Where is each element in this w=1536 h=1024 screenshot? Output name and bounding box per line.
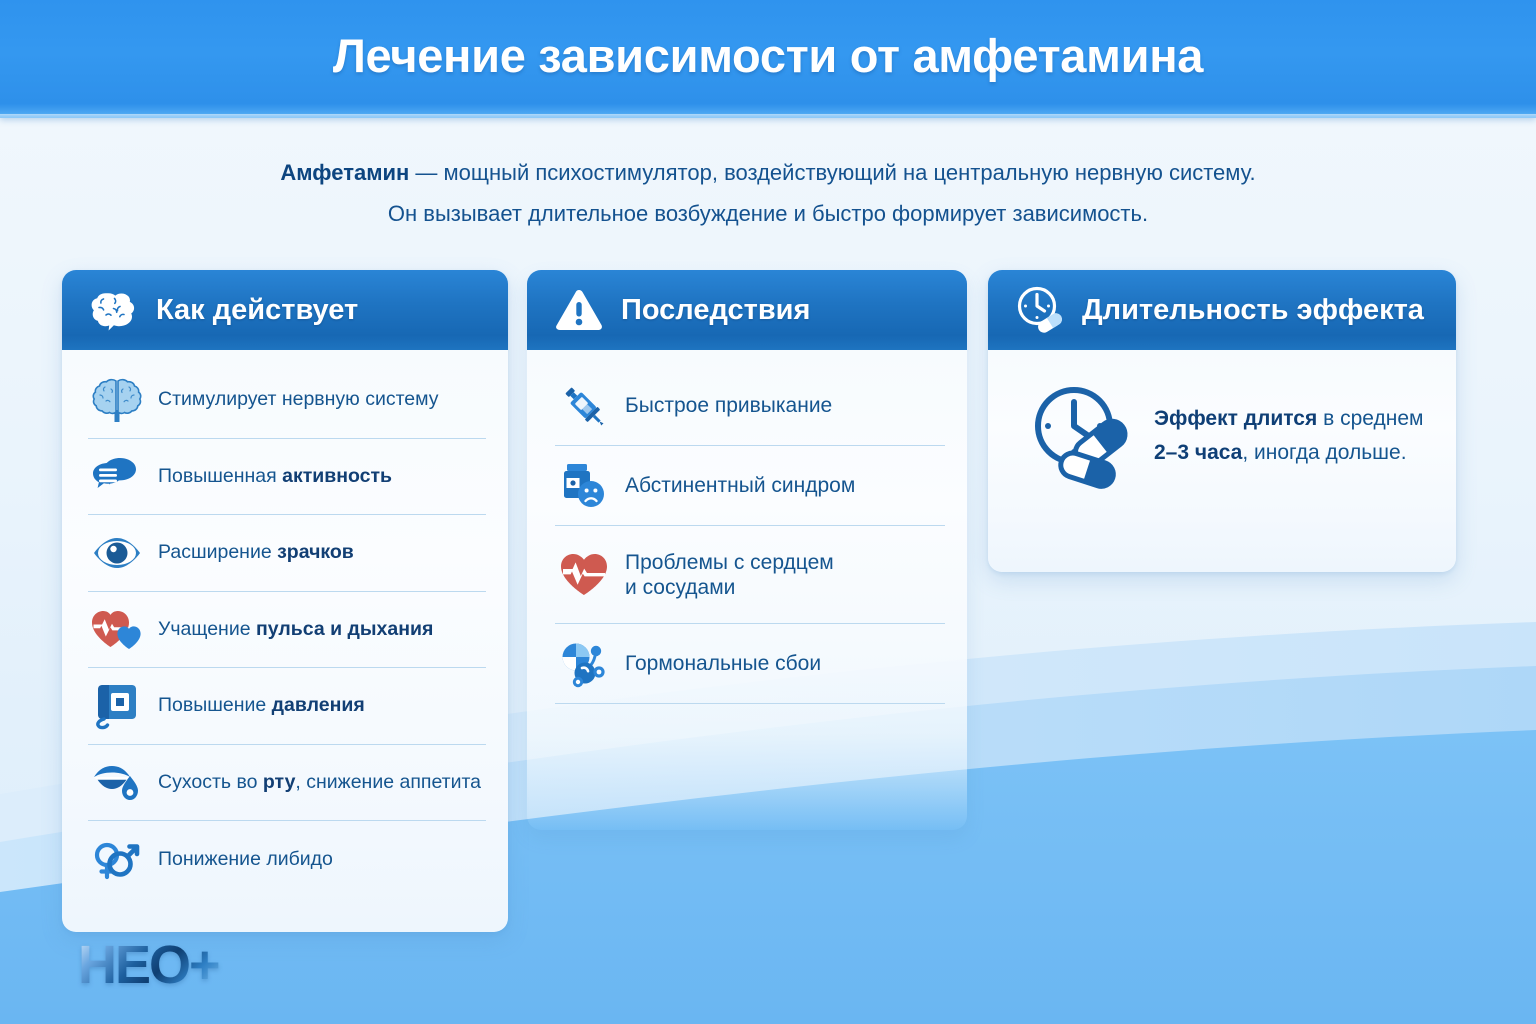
- list-item-label: Понижение либидо: [158, 847, 333, 872]
- card-duration-content: Эффект длится в среднем2–3 часа, иногда …: [1024, 382, 1428, 490]
- card-how-header: Как действует: [62, 270, 508, 350]
- list-item-label: Повышение давления: [158, 693, 365, 718]
- page-banner: Лечение зависимости от амфетамина: [0, 0, 1536, 118]
- syringe-icon: [555, 381, 613, 431]
- clock-pills-icon: [1014, 284, 1066, 336]
- card-consequences-title: Последствия: [621, 294, 810, 327]
- list-item-label: Абстинентный синдром: [625, 473, 855, 498]
- gender-symbols-icon: [88, 835, 146, 883]
- list-item-label: Учащение пульса и дыхания: [158, 617, 433, 642]
- list-item: Расширение зрачков: [88, 515, 486, 592]
- intro-line-1: Амфетамин — мощный психостимулятор, возд…: [0, 152, 1536, 193]
- list-item-label: Расширение зрачков: [158, 540, 354, 565]
- clock-capsules-icon: [1024, 382, 1140, 490]
- infographic-root: Лечение зависимости от амфетамина Амфета…: [0, 0, 1536, 1024]
- list-item: Понижение либидо: [88, 821, 486, 898]
- heart-pulse-icon: [555, 552, 613, 598]
- intro-paragraph: Амфетамин — мощный психостимулятор, возд…: [0, 152, 1536, 234]
- page-title: Лечение зависимости от амфетамина: [0, 28, 1536, 83]
- list-item-label: Повышенная активность: [158, 464, 392, 489]
- list-item: Стимулирует нервную систему: [88, 362, 486, 439]
- list-item-label: Сухость во рту, снижение аппетита: [158, 770, 481, 795]
- card-duration-text: Эффект длится в среднем2–3 часа, иногда …: [1154, 402, 1423, 470]
- card-consequences: Последствия: [527, 270, 967, 830]
- list-item: Абстинентный синдром: [555, 446, 945, 526]
- intro-lead-term: Амфетамин: [280, 160, 409, 185]
- warning-triangle-icon: [553, 284, 605, 336]
- card-duration-title: Длительность эффекта: [1082, 294, 1424, 327]
- list-item: Гормональные сбои: [555, 624, 945, 704]
- pill-bottle-sad-face-icon: [555, 461, 613, 511]
- blood-pressure-icon: [88, 682, 146, 730]
- hearts-pulse-icon: [88, 607, 146, 651]
- card-duration: Длительность эффекта: [988, 270, 1456, 572]
- card-how-list: Стимулирует нервную систему Повыш: [88, 362, 486, 898]
- card-consequences-list: Быстрое привыкание Абстинентный с: [555, 366, 945, 704]
- brain-outline-icon: [88, 284, 140, 336]
- intro-line-2: Он вызывает длительное возбуждение и быс…: [0, 193, 1536, 234]
- intro-line-1-rest: — мощный психостимулятор, воздействующий…: [409, 160, 1255, 185]
- list-item: Повышение давления: [88, 668, 486, 745]
- list-item-label: Проблемы с сердцем и сосудами: [625, 550, 834, 600]
- list-item: Быстрое привыкание: [555, 366, 945, 446]
- card-how-title: Как действует: [156, 294, 358, 327]
- card-consequences-header: Последствия: [527, 270, 967, 350]
- dry-mouth-icon: [88, 760, 146, 804]
- list-item: Сухость во рту, снижение аппетита: [88, 745, 486, 822]
- list-item: Учащение пульса и дыхания: [88, 592, 486, 669]
- list-item: Проблемы с сердцем и сосудами: [555, 526, 945, 624]
- list-item-label: Быстрое привыкание: [625, 393, 832, 418]
- hormone-molecule-icon: [555, 640, 613, 688]
- speech-bubble-icon: [88, 454, 146, 498]
- list-item-label: Гормональные сбои: [625, 651, 821, 676]
- card-duration-header: Длительность эффекта: [988, 270, 1456, 350]
- brain-icon: [88, 376, 146, 424]
- brand-logo[interactable]: НЕО+: [78, 938, 219, 992]
- list-item-label: Стимулирует нервную систему: [158, 387, 439, 412]
- list-item: Повышенная активность: [88, 439, 486, 516]
- card-how-it-works: Как действует: [62, 270, 508, 932]
- eye-icon: [88, 536, 146, 570]
